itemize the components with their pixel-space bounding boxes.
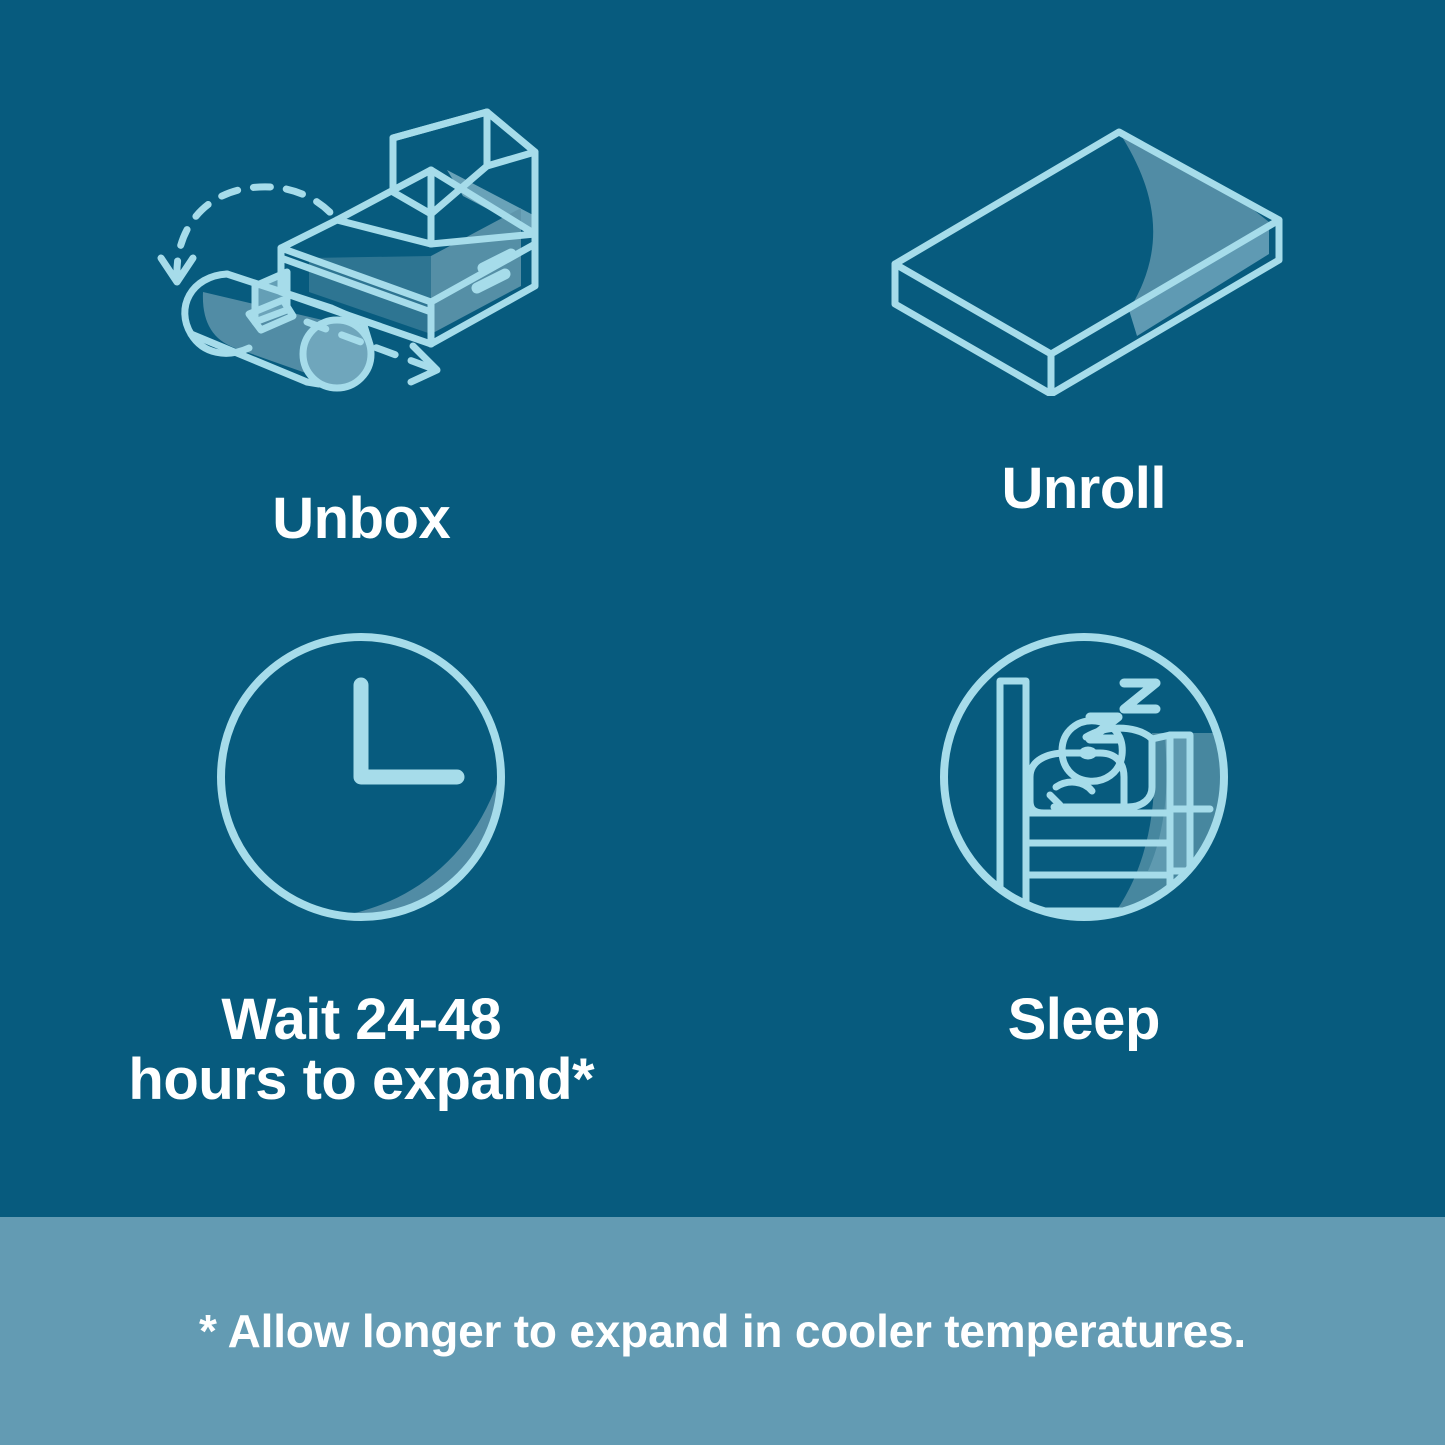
footnote-text: * Allow longer to expand in cooler tempe… [199,1304,1246,1358]
footer-band: * Allow longer to expand in cooler tempe… [0,1217,1445,1445]
clock-icon [211,627,511,932]
box-with-rolled-mattress-icon [131,96,591,431]
step-label-wait: Wait 24-48 hours to expand* [128,990,594,1112]
step-label-sleep: Sleep [1008,990,1160,1051]
flat-mattress-icon [869,96,1299,401]
step-label-unbox: Unbox [272,489,450,550]
step-unroll: Unroll [723,0,1445,609]
step-wait: Wait 24-48 hours to expand* [0,609,723,1218]
step-unbox: Unbox [0,0,723,609]
setup-instructions-infographic: Unbox [0,0,1445,1445]
steps-grid: Unbox [0,0,1445,1217]
step-sleep: Sleep [723,609,1445,1218]
person-sleeping-in-bed-icon [934,627,1234,932]
step-label-unroll: Unroll [1001,459,1166,520]
